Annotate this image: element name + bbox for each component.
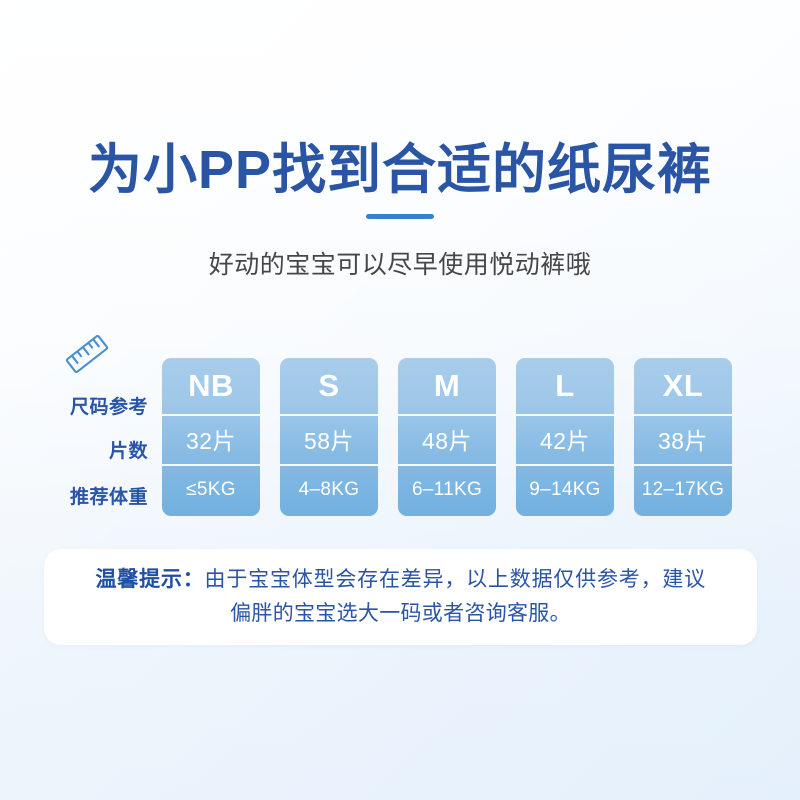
size-column-s[interactable]: S 58片 4–8KG bbox=[280, 358, 378, 516]
size-value: NB bbox=[162, 358, 260, 414]
row-label-size: 尺码参考 bbox=[30, 392, 148, 419]
page-root: 为小PP找到合适的纸尿裤 好动的宝宝可以尽早使用悦动裤哦 尺码参考 片数 推荐体… bbox=[0, 0, 800, 800]
count-value: 48片 bbox=[398, 414, 496, 464]
size-columns: NB 32片 ≤5KG S 58片 4–8KG M 48片 6–11KG L 4… bbox=[162, 358, 736, 516]
table-row-labels: 尺码参考 片数 推荐体重 bbox=[30, 358, 148, 516]
size-value: XL bbox=[634, 358, 732, 414]
count-value: 58片 bbox=[280, 414, 378, 464]
tip-inner: 温馨提示：由于宝宝体型会存在差异，以上数据仅供参考，建议偏胖的宝宝选大一码或者咨… bbox=[44, 549, 757, 645]
page-title: 为小PP找到合适的纸尿裤 bbox=[0, 139, 800, 201]
count-value: 38片 bbox=[634, 414, 732, 464]
count-value: 42片 bbox=[516, 414, 614, 464]
tip-text: 温馨提示：由于宝宝体型会存在差异，以上数据仅供参考，建议偏胖的宝宝选大一码或者咨… bbox=[96, 563, 706, 631]
count-value: 32片 bbox=[162, 414, 260, 464]
title-divider bbox=[366, 214, 434, 219]
weight-value: 6–11KG bbox=[398, 464, 496, 516]
size-column-l[interactable]: L 42片 9–14KG bbox=[516, 358, 614, 516]
size-column-nb[interactable]: NB 32片 ≤5KG bbox=[162, 358, 260, 516]
size-reference-table: 尺码参考 片数 推荐体重 NB 32片 ≤5KG S 58片 4–8KG M 4… bbox=[0, 358, 800, 518]
size-value: M bbox=[398, 358, 496, 414]
size-value: S bbox=[280, 358, 378, 414]
weight-value: 4–8KG bbox=[280, 464, 378, 516]
weight-value: ≤5KG bbox=[162, 464, 260, 516]
size-value: L bbox=[516, 358, 614, 414]
weight-value: 12–17KG bbox=[634, 464, 732, 516]
size-column-m[interactable]: M 48片 6–11KG bbox=[398, 358, 496, 516]
tip-label: 温馨提示： bbox=[96, 568, 205, 591]
tip-box: 温馨提示：由于宝宝体型会存在差异，以上数据仅供参考，建议偏胖的宝宝选大一码或者咨… bbox=[44, 549, 757, 645]
row-label-weight: 推荐体重 bbox=[30, 482, 148, 509]
tip-body: 由于宝宝体型会存在差异，以上数据仅供参考，建议偏胖的宝宝选大一码或者咨询客服。 bbox=[205, 568, 706, 625]
row-label-count: 片数 bbox=[30, 436, 148, 463]
size-column-xl[interactable]: XL 38片 12–17KG bbox=[634, 358, 732, 516]
weight-value: 9–14KG bbox=[516, 464, 614, 516]
page-subtitle: 好动的宝宝可以尽早使用悦动裤哦 bbox=[0, 248, 800, 282]
